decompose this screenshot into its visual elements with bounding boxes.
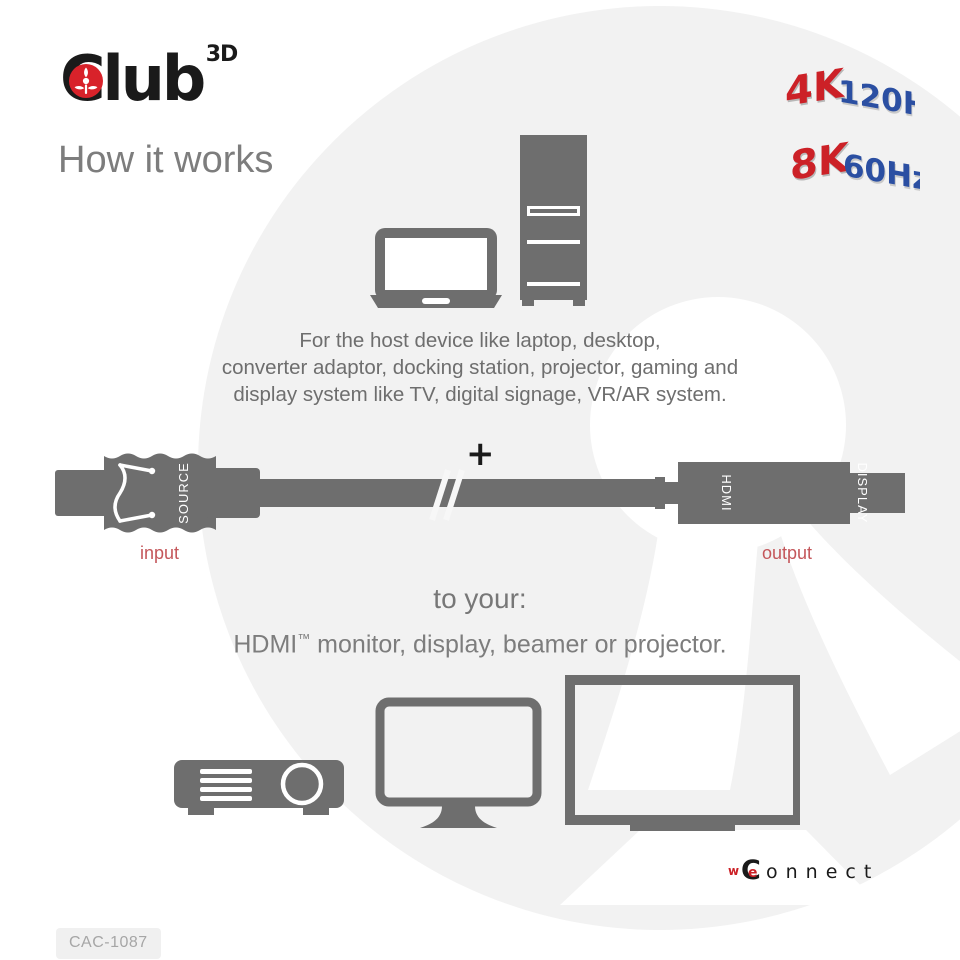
club-emblem-icon [66,61,106,101]
page-title: How it works [58,139,273,182]
destination-device-icons [170,672,800,834]
tv-icon [570,680,798,831]
input-connector-text: SOURCE [176,462,191,524]
destination-heading: to your: [0,582,960,616]
host-description-line-1: For the host device like laptop, desktop… [0,327,960,354]
monitor-icon [380,702,537,828]
plus-symbol: + [466,437,495,471]
input-connector: SOURCE [55,454,260,533]
output-connector: HDMI DISPLAY [648,462,905,524]
sku-badge: CAC-1087 [56,928,161,959]
destination-rest-text: monitor, display, beamer or projector. [310,630,726,658]
weconnect-logo: w C e onnect [728,853,938,887]
output-label: output [762,543,812,564]
host-description-line-2: converter adaptor, docking station, proj… [0,354,960,381]
host-description-line-3: display system like TV, digital signage,… [0,381,960,408]
badge-4k-120hz: 4K 4K 120Hz 120Hz [785,62,915,120]
output-connector-text-hdmi: HDMI [719,474,734,511]
weconnect-w: w [728,864,739,878]
host-device-icons [370,128,600,313]
trademark-symbol: ™ [297,631,310,646]
weconnect-rest: onnect [766,861,879,883]
input-label: input [140,543,179,564]
infographic-canvas: Club 3D How it works 4K 4K 120Hz 120Hz [0,0,960,960]
output-connector-text-display: DISPLAY [855,463,870,524]
desktop-tower-icon [520,135,587,306]
weconnect-e: e [748,865,758,881]
club3d-logo: Club 3D [60,48,203,110]
brand-superscript: 3D [206,44,238,66]
destination-hdmi-text: HDMI [233,630,297,658]
host-description: For the host device like laptop, desktop… [0,327,960,408]
projector-icon [174,760,344,815]
destination-description: HDMI™ monitor, display, beamer or projec… [0,623,960,660]
badge-8k-60hz: 8K 8K 60Hz 60Hz [790,136,920,194]
laptop-icon [370,228,502,308]
